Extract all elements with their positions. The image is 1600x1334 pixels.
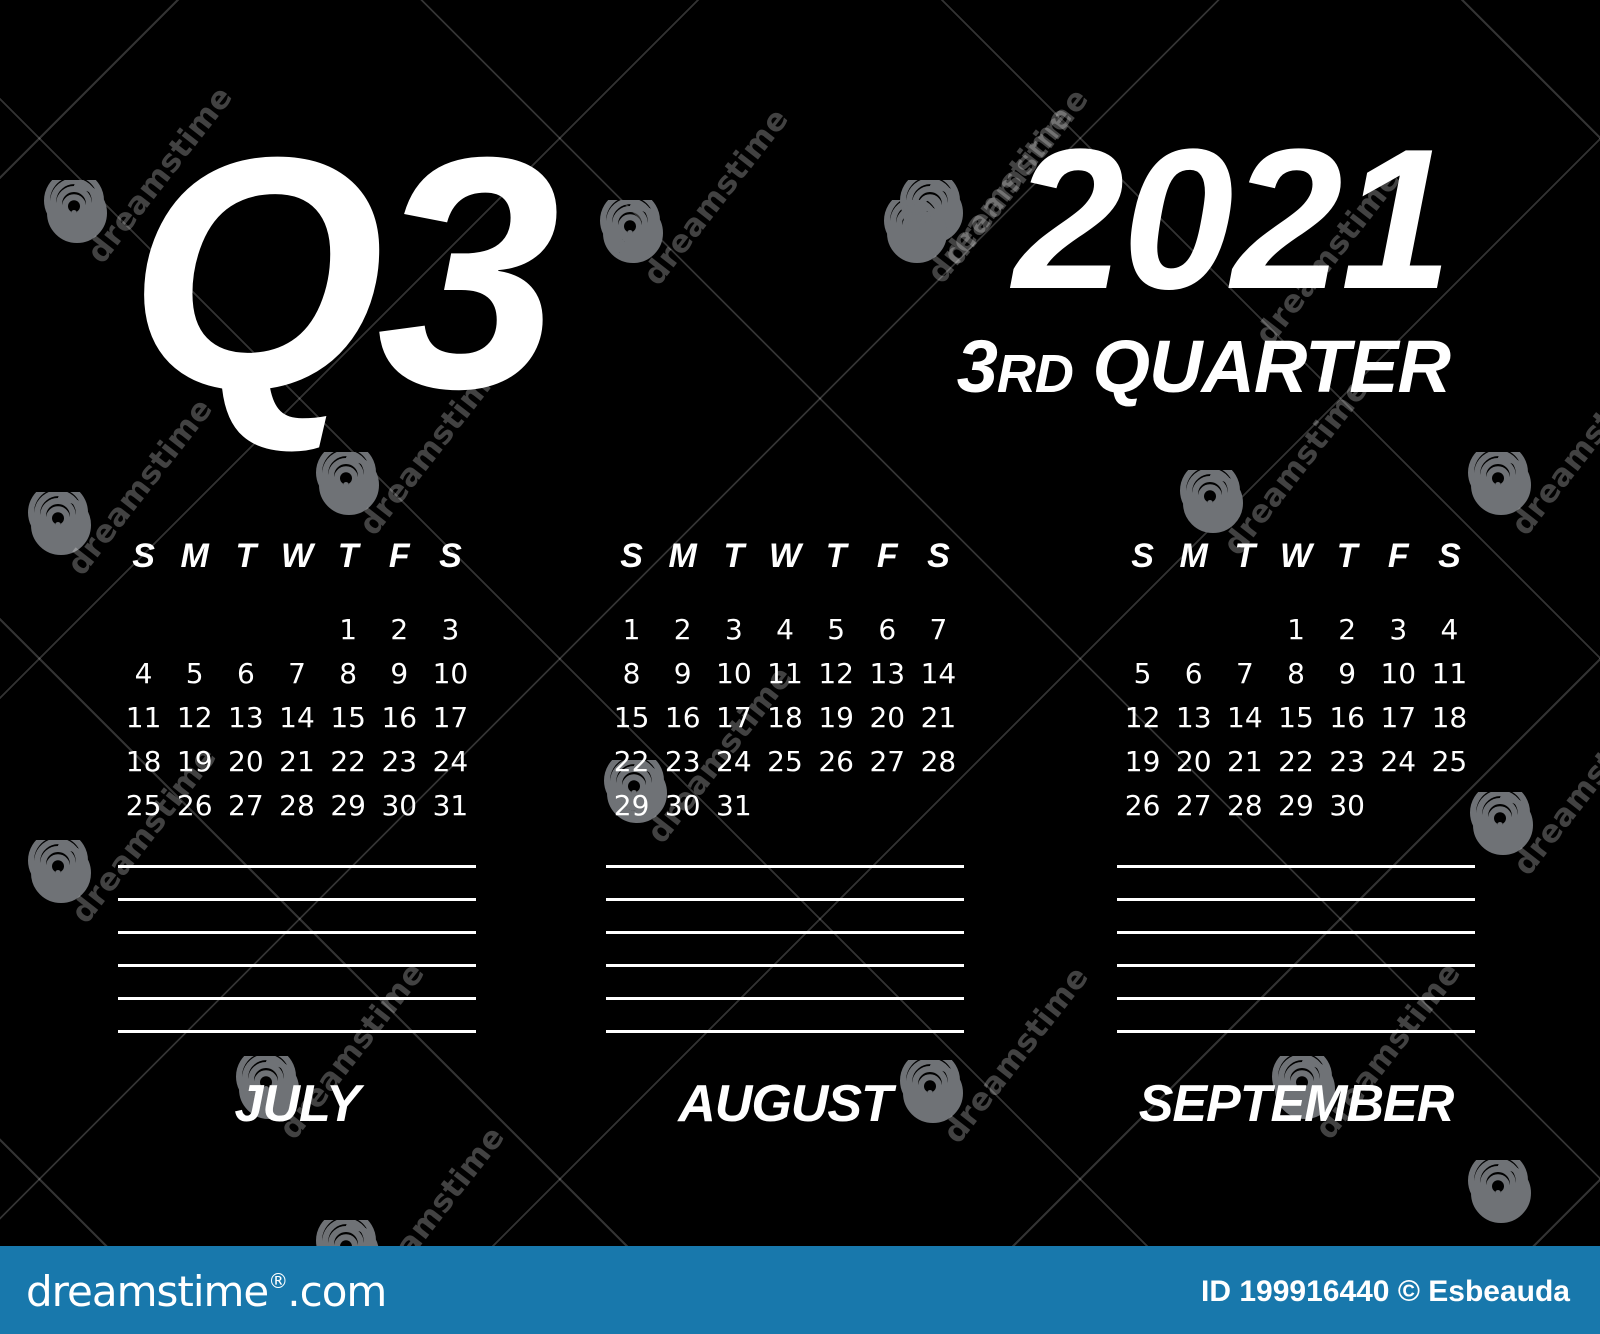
day-of-week-label: W <box>1270 536 1321 576</box>
day-cell[interactable]: 2 <box>374 608 425 652</box>
day-of-week-label: S <box>606 536 657 576</box>
note-line[interactable] <box>1117 1030 1475 1033</box>
day-cell[interactable]: 19 <box>811 696 862 740</box>
day-cell-empty <box>1168 608 1219 652</box>
day-cell-empty <box>759 784 810 828</box>
note-lines <box>118 865 476 1033</box>
week-row: 2627282930 <box>1117 784 1475 828</box>
day-of-week-label: M <box>169 536 220 576</box>
dreamstime-logo-tld: .com <box>287 1267 386 1316</box>
day-of-week-label: T <box>323 536 374 576</box>
day-of-week-label: W <box>271 536 322 576</box>
day-of-week-header-row: SMTWTFS <box>606 536 964 576</box>
spiral-logo-icon <box>28 840 94 906</box>
registered-mark-icon: ® <box>268 1269 287 1293</box>
month-name-label: JULY <box>118 1075 476 1133</box>
note-line[interactable] <box>606 964 964 967</box>
day-cell[interactable]: 23 <box>657 740 708 784</box>
week-row: 293031 <box>606 784 964 828</box>
spiral-logo-icon <box>1468 1160 1534 1226</box>
day-cell[interactable]: 16 <box>1322 696 1373 740</box>
month-block-july: SMTWTFS123456789101112131415161718192021… <box>118 536 476 1133</box>
day-cell[interactable]: 11 <box>1424 652 1475 696</box>
note-line[interactable] <box>1117 931 1475 934</box>
note-line[interactable] <box>1117 997 1475 1000</box>
quarter-subheading: 3RD QUARTER <box>957 330 1450 411</box>
spiral-logo-icon <box>1180 470 1246 536</box>
year-heading: 2021 <box>1013 120 1450 320</box>
day-cell-empty <box>811 784 862 828</box>
day-cell[interactable]: 14 <box>913 652 964 696</box>
note-line[interactable] <box>1117 865 1475 868</box>
day-of-week-label: T <box>811 536 862 576</box>
day-cell[interactable]: 20 <box>1168 740 1219 784</box>
day-cell[interactable]: 6 <box>1168 652 1219 696</box>
day-cell[interactable]: 13 <box>1168 696 1219 740</box>
spiral-logo-icon <box>316 452 382 518</box>
day-cell[interactable]: 3 <box>708 608 759 652</box>
day-of-week-label: S <box>1117 536 1168 576</box>
day-cell[interactable]: 21 <box>271 740 322 784</box>
calendar-poster: dreamstimedreamstimedreamstimedreamstime… <box>0 0 1600 1334</box>
day-cell[interactable]: 4 <box>1424 608 1475 652</box>
day-cell[interactable]: 19 <box>1117 740 1168 784</box>
note-line[interactable] <box>606 865 964 868</box>
day-cell[interactable]: 27 <box>1168 784 1219 828</box>
day-cell-empty <box>118 608 169 652</box>
note-line[interactable] <box>606 1030 964 1033</box>
day-cell[interactable]: 26 <box>169 784 220 828</box>
stock-footer-bar: dreamstime®.com ID 199916440 © Esbeauda <box>0 1246 1600 1334</box>
day-of-week-label: F <box>862 536 913 576</box>
day-cell[interactable]: 31 <box>708 784 759 828</box>
day-cell[interactable]: 29 <box>606 784 657 828</box>
day-cell[interactable]: 9 <box>657 652 708 696</box>
day-cell[interactable]: 14 <box>1219 696 1270 740</box>
note-line[interactable] <box>606 997 964 1000</box>
day-cell[interactable]: 5 <box>1117 652 1168 696</box>
day-cell[interactable]: 18 <box>759 696 810 740</box>
day-cell[interactable]: 28 <box>1219 784 1270 828</box>
day-cell[interactable]: 21 <box>1219 740 1270 784</box>
day-of-week-header-row: SMTWTFS <box>1117 536 1475 576</box>
day-cell[interactable]: 8 <box>323 652 374 696</box>
week-row: 15161718192021 <box>606 696 964 740</box>
note-line[interactable] <box>1117 898 1475 901</box>
day-of-week-label: S <box>425 536 476 576</box>
note-line[interactable] <box>1117 964 1475 967</box>
week-row: 22232425262728 <box>606 740 964 784</box>
day-cell[interactable]: 18 <box>118 740 169 784</box>
note-line[interactable] <box>118 997 476 1000</box>
watermark-text: dreamstime <box>636 101 796 292</box>
week-row: 12131415161718 <box>1117 696 1475 740</box>
day-of-week-label: W <box>759 536 810 576</box>
day-of-week-label: M <box>1168 536 1219 576</box>
day-cell[interactable]: 31 <box>425 784 476 828</box>
note-line[interactable] <box>118 865 476 868</box>
day-cell[interactable]: 23 <box>1322 740 1373 784</box>
day-cell[interactable]: 18 <box>1424 696 1475 740</box>
day-cell[interactable]: 3 <box>425 608 476 652</box>
day-of-week-header-row: SMTWTFS <box>118 536 476 576</box>
day-cell-empty <box>271 608 322 652</box>
image-credit: ID 199916440 © Esbeauda <box>1201 1274 1570 1310</box>
day-cell[interactable]: 22 <box>1270 740 1321 784</box>
week-row: 18192021222324 <box>118 740 476 784</box>
day-cell[interactable]: 20 <box>220 740 271 784</box>
day-cell[interactable]: 12 <box>169 696 220 740</box>
day-cell[interactable]: 24 <box>708 740 759 784</box>
watermark-text: dreamstime <box>1506 691 1600 882</box>
day-cell[interactable]: 25 <box>118 784 169 828</box>
day-cell[interactable]: 26 <box>811 740 862 784</box>
month-block-august: SMTWTFS123456789101112131415161718192021… <box>606 536 964 1133</box>
day-cell[interactable]: 6 <box>862 608 913 652</box>
dreamstime-logo-word: dreamstime <box>26 1267 268 1316</box>
day-of-week-label: T <box>1219 536 1270 576</box>
day-cell[interactable]: 10 <box>425 652 476 696</box>
note-line[interactable] <box>118 931 476 934</box>
day-cell[interactable]: 28 <box>913 740 964 784</box>
quarter-heading: Q3 <box>128 108 552 438</box>
month-name-label: AUGUST <box>606 1075 964 1133</box>
day-cell[interactable]: 16 <box>374 696 425 740</box>
day-cell-empty <box>169 608 220 652</box>
day-cell[interactable]: 7 <box>1219 652 1270 696</box>
day-cell[interactable]: 22 <box>606 740 657 784</box>
day-cell[interactable]: 17 <box>1373 696 1424 740</box>
day-cell[interactable]: 17 <box>708 696 759 740</box>
day-of-week-label: T <box>1322 536 1373 576</box>
week-row: 19202122232425 <box>1117 740 1475 784</box>
spiral-logo-icon <box>44 180 110 246</box>
quarter-ordinal-number: 3 <box>957 325 997 408</box>
note-lines <box>1117 865 1475 1033</box>
day-cell[interactable]: 30 <box>374 784 425 828</box>
day-cell[interactable]: 5 <box>169 652 220 696</box>
day-cell[interactable]: 9 <box>374 652 425 696</box>
day-of-week-label: M <box>657 536 708 576</box>
day-cell-empty <box>1373 784 1424 828</box>
day-cell[interactable]: 19 <box>169 740 220 784</box>
note-line[interactable] <box>606 898 964 901</box>
day-of-week-label: F <box>374 536 425 576</box>
day-cell[interactable]: 15 <box>323 696 374 740</box>
day-cell[interactable]: 16 <box>657 696 708 740</box>
day-cell[interactable]: 6 <box>220 652 271 696</box>
month-name-label: SEPTEMBER <box>1117 1075 1475 1133</box>
day-cell[interactable]: 17 <box>425 696 476 740</box>
day-cell[interactable]: 15 <box>606 696 657 740</box>
spiral-logo-icon <box>28 492 94 558</box>
spiral-logo-icon <box>1470 792 1536 858</box>
day-cell-empty <box>1424 784 1475 828</box>
day-cell[interactable]: 10 <box>1373 652 1424 696</box>
note-line[interactable] <box>118 964 476 967</box>
day-cell[interactable]: 11 <box>759 652 810 696</box>
note-line[interactable] <box>118 898 476 901</box>
day-cell[interactable]: 5 <box>811 608 862 652</box>
spiral-logo-icon <box>600 200 666 266</box>
day-cell[interactable]: 1 <box>606 608 657 652</box>
day-of-week-label: T <box>708 536 759 576</box>
day-cell[interactable]: 9 <box>1322 652 1373 696</box>
day-cell[interactable]: 29 <box>323 784 374 828</box>
day-cell-empty <box>220 608 271 652</box>
watermark-text: dreamstime <box>1504 351 1600 542</box>
day-cell-empty <box>1117 608 1168 652</box>
week-row: 123 <box>118 608 476 652</box>
day-cell[interactable]: 7 <box>271 652 322 696</box>
day-cell[interactable]: 1 <box>323 608 374 652</box>
dreamstime-logo[interactable]: dreamstime®.com <box>26 1268 386 1323</box>
day-cell[interactable]: 8 <box>606 652 657 696</box>
day-cell[interactable]: 28 <box>271 784 322 828</box>
day-cell[interactable]: 14 <box>271 696 322 740</box>
day-cell[interactable]: 30 <box>657 784 708 828</box>
quarter-word: QUARTER <box>1092 325 1450 408</box>
day-cell[interactable]: 30 <box>1322 784 1373 828</box>
day-cell[interactable]: 12 <box>811 652 862 696</box>
day-cell[interactable]: 2 <box>657 608 708 652</box>
day-cell[interactable]: 24 <box>1373 740 1424 784</box>
day-of-week-label: S <box>913 536 964 576</box>
day-of-week-label: S <box>118 536 169 576</box>
day-cell-empty <box>862 784 913 828</box>
day-cell[interactable]: 8 <box>1270 652 1321 696</box>
day-cell[interactable]: 1 <box>1270 608 1321 652</box>
note-lines <box>606 865 964 1033</box>
day-cell[interactable]: 27 <box>220 784 271 828</box>
watermark-text: dreamstime <box>352 1119 512 1246</box>
day-cell[interactable]: 29 <box>1270 784 1321 828</box>
week-row: 25262728293031 <box>118 784 476 828</box>
day-cell-empty <box>1219 608 1270 652</box>
day-cell[interactable]: 4 <box>118 652 169 696</box>
day-cell[interactable]: 24 <box>425 740 476 784</box>
week-row: 891011121314 <box>606 652 964 696</box>
day-cell[interactable]: 15 <box>1270 696 1321 740</box>
day-cell[interactable]: 3 <box>1373 608 1424 652</box>
day-cell[interactable]: 12 <box>1117 696 1168 740</box>
day-cell[interactable]: 23 <box>374 740 425 784</box>
day-cell[interactable]: 2 <box>1322 608 1373 652</box>
month-block-september: SMTWTFS123456789101112131415161718192021… <box>1117 536 1475 1133</box>
week-row: 1234567 <box>606 608 964 652</box>
day-of-week-label: T <box>220 536 271 576</box>
day-cell[interactable]: 10 <box>708 652 759 696</box>
spiral-logo-icon <box>884 200 950 266</box>
note-line[interactable] <box>606 931 964 934</box>
day-cell[interactable]: 11 <box>118 696 169 740</box>
week-row: 567891011 <box>1117 652 1475 696</box>
day-cell[interactable]: 20 <box>862 696 913 740</box>
day-cell[interactable]: 13 <box>220 696 271 740</box>
day-cell[interactable]: 26 <box>1117 784 1168 828</box>
day-cell[interactable]: 4 <box>759 608 810 652</box>
week-row: 1234 <box>1117 608 1475 652</box>
day-of-week-label: S <box>1424 536 1475 576</box>
week-row: 11121314151617 <box>118 696 476 740</box>
day-cell[interactable]: 7 <box>913 608 964 652</box>
note-line[interactable] <box>118 1030 476 1033</box>
spiral-logo-icon <box>316 1220 382 1246</box>
quarter-ordinal-suffix: RD <box>997 344 1073 404</box>
day-of-week-label: F <box>1373 536 1424 576</box>
day-cell[interactable]: 13 <box>862 652 913 696</box>
day-cell[interactable]: 21 <box>913 696 964 740</box>
day-cell-empty <box>913 784 964 828</box>
spiral-logo-icon <box>1468 452 1534 518</box>
day-cell[interactable]: 27 <box>862 740 913 784</box>
day-cell[interactable]: 25 <box>759 740 810 784</box>
day-cell[interactable]: 25 <box>1424 740 1475 784</box>
spiral-logo-icon <box>900 180 966 246</box>
day-cell[interactable]: 22 <box>323 740 374 784</box>
week-row: 45678910 <box>118 652 476 696</box>
